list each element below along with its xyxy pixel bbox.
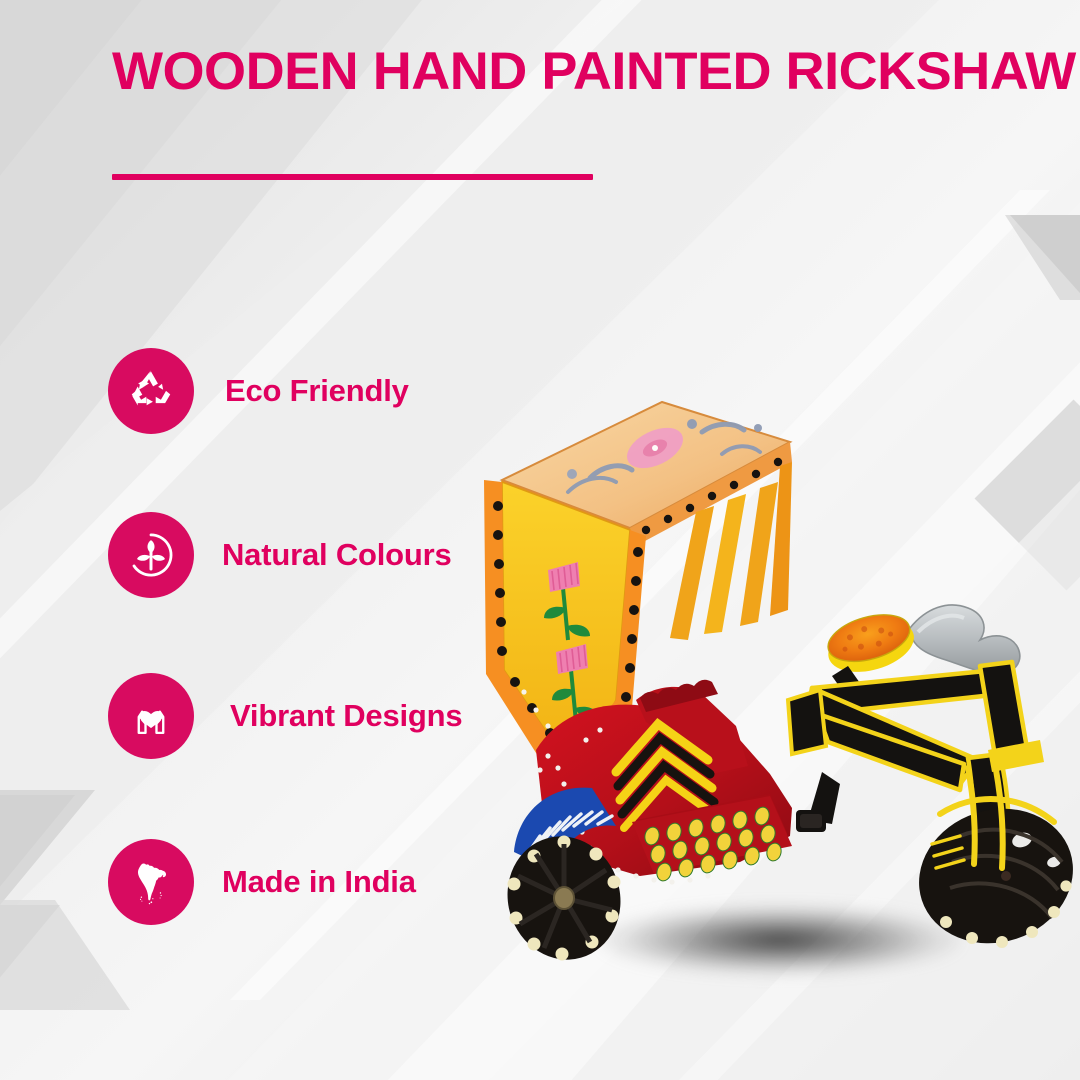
feature-item-natural-colours: Natural Colours	[108, 511, 452, 599]
page-title: WOODEN HAND PAINTED RICKSHAW	[112, 44, 1030, 100]
hands-heart-icon	[108, 673, 194, 759]
feature-label: Natural Colours	[222, 537, 452, 573]
feature-item-eco-friendly: Eco Friendly	[108, 347, 409, 435]
feature-item-made-in-india: Made in India	[108, 838, 416, 926]
india-map-icon	[108, 839, 194, 925]
plant-sprout-icon	[108, 512, 194, 598]
title-divider	[112, 174, 593, 180]
feature-label: Vibrant Designs	[230, 698, 462, 734]
feature-label: Made in India	[222, 864, 416, 900]
recycle-icon	[108, 348, 194, 434]
feature-label: Eco Friendly	[225, 373, 409, 409]
product-image	[440, 370, 1080, 970]
infographic-canvas: WOODEN HAND PAINTED RICKSHAW	[0, 0, 1080, 1080]
feature-item-vibrant-designs: Vibrant Designs	[108, 672, 462, 760]
